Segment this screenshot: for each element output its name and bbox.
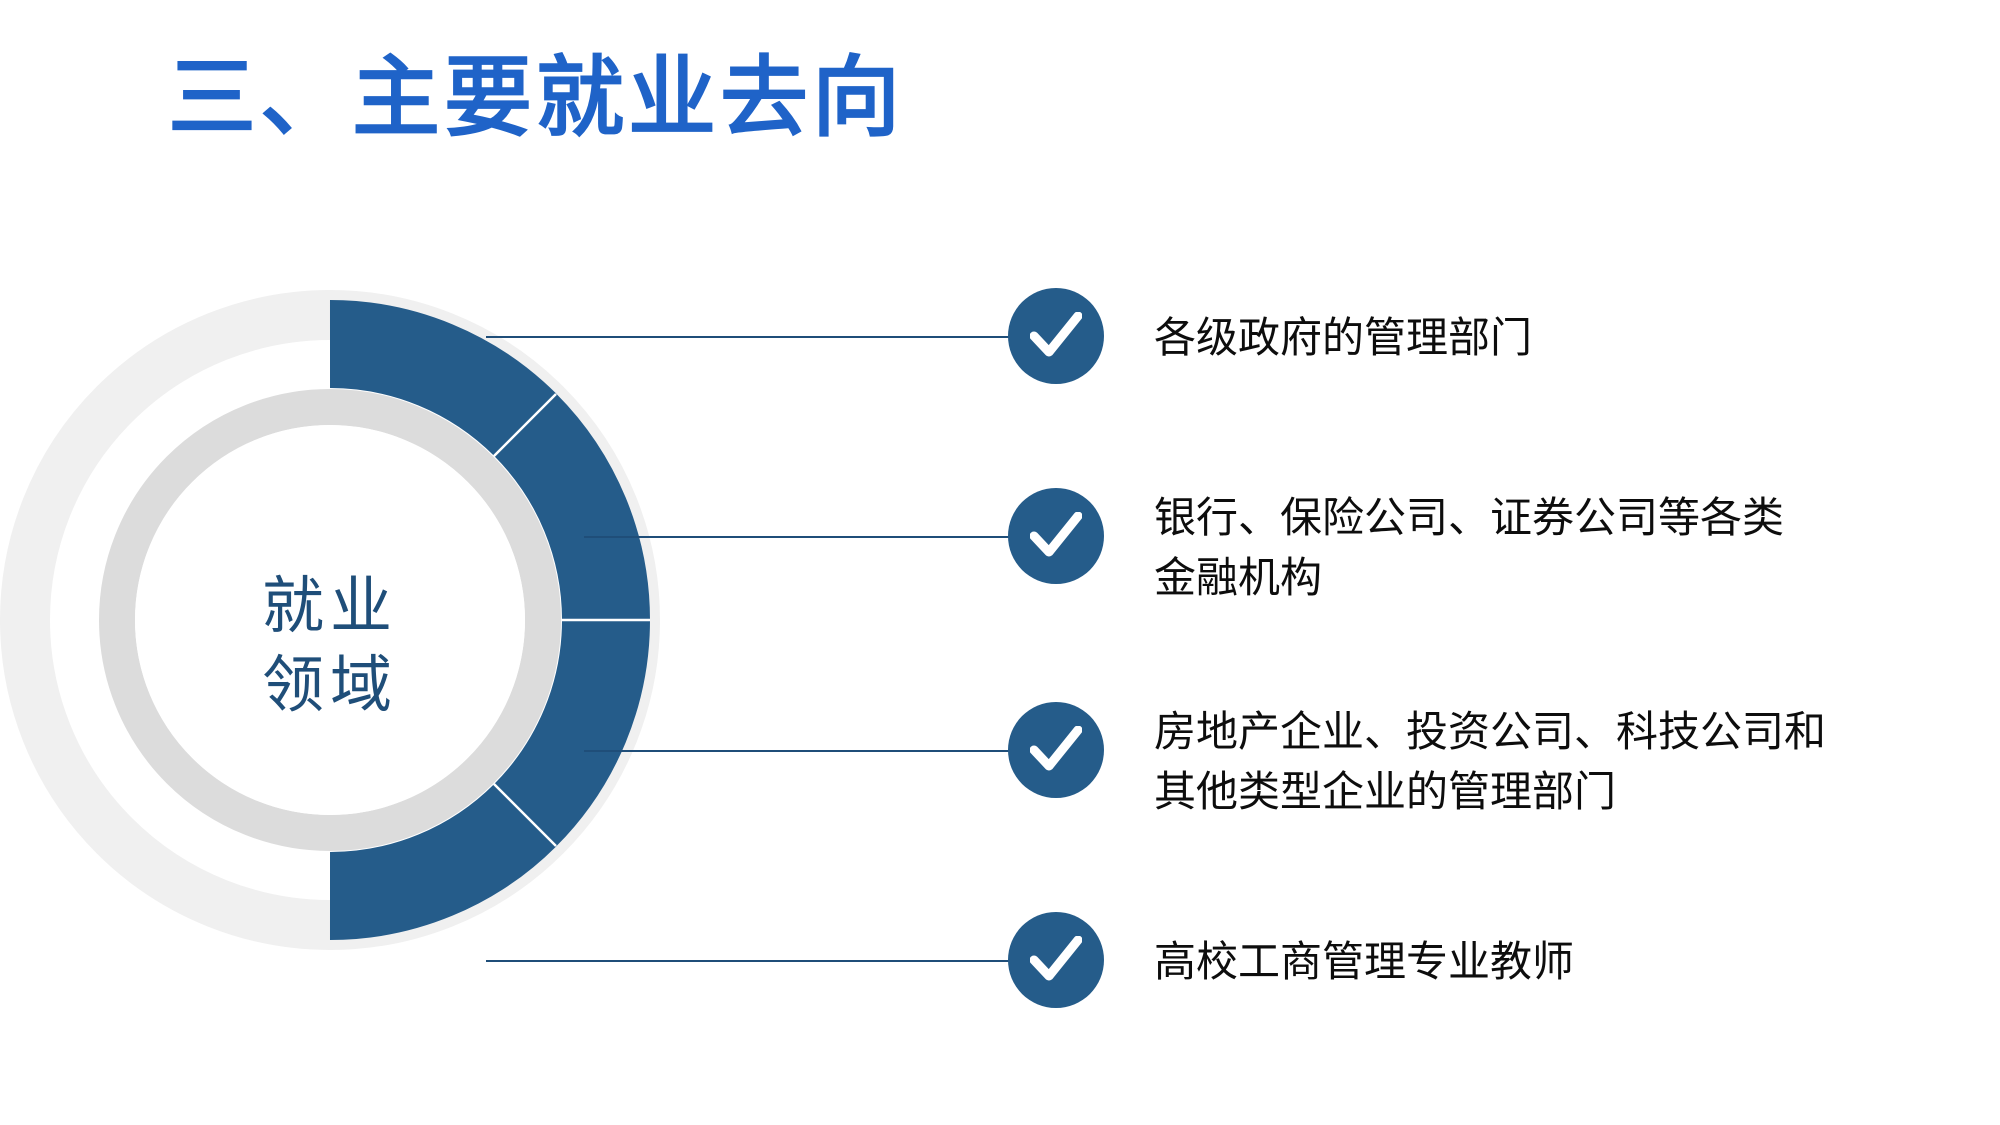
connector-line-1 <box>486 336 1010 338</box>
list-item-label: 高校工商管理专业教师 <box>1154 912 1574 994</box>
slide-canvas: 三、主要就业去向 <box>0 0 2000 1125</box>
check-icon <box>1008 288 1104 384</box>
list-item[interactable]: 各级政府的管理部门 <box>1008 288 1532 384</box>
check-icon <box>1008 702 1104 798</box>
connector-line-4 <box>486 960 1010 962</box>
list-item[interactable]: 高校工商管理专业教师 <box>1008 912 1574 1008</box>
connector-line-2 <box>584 536 1010 538</box>
list-item[interactable]: 银行、保险公司、证券公司等各类 金融机构 <box>1008 488 1784 609</box>
list-item[interactable]: 房地产企业、投资公司、科技公司和 其他类型企业的管理部门 <box>1008 702 1826 823</box>
donut-center-disc <box>135 425 525 815</box>
list-item-label: 房地产企业、投资公司、科技公司和 其他类型企业的管理部门 <box>1154 702 1826 823</box>
donut-chart-svg <box>0 228 700 1018</box>
check-icon <box>1008 912 1104 1008</box>
list-item-label: 银行、保险公司、证券公司等各类 金融机构 <box>1154 488 1784 609</box>
donut-chart: 就业 领域 <box>0 228 700 1018</box>
check-icon <box>1008 488 1104 584</box>
list-item-label: 各级政府的管理部门 <box>1154 288 1532 370</box>
page-title: 三、主要就业去向 <box>168 52 904 144</box>
connector-line-3 <box>584 750 1010 752</box>
